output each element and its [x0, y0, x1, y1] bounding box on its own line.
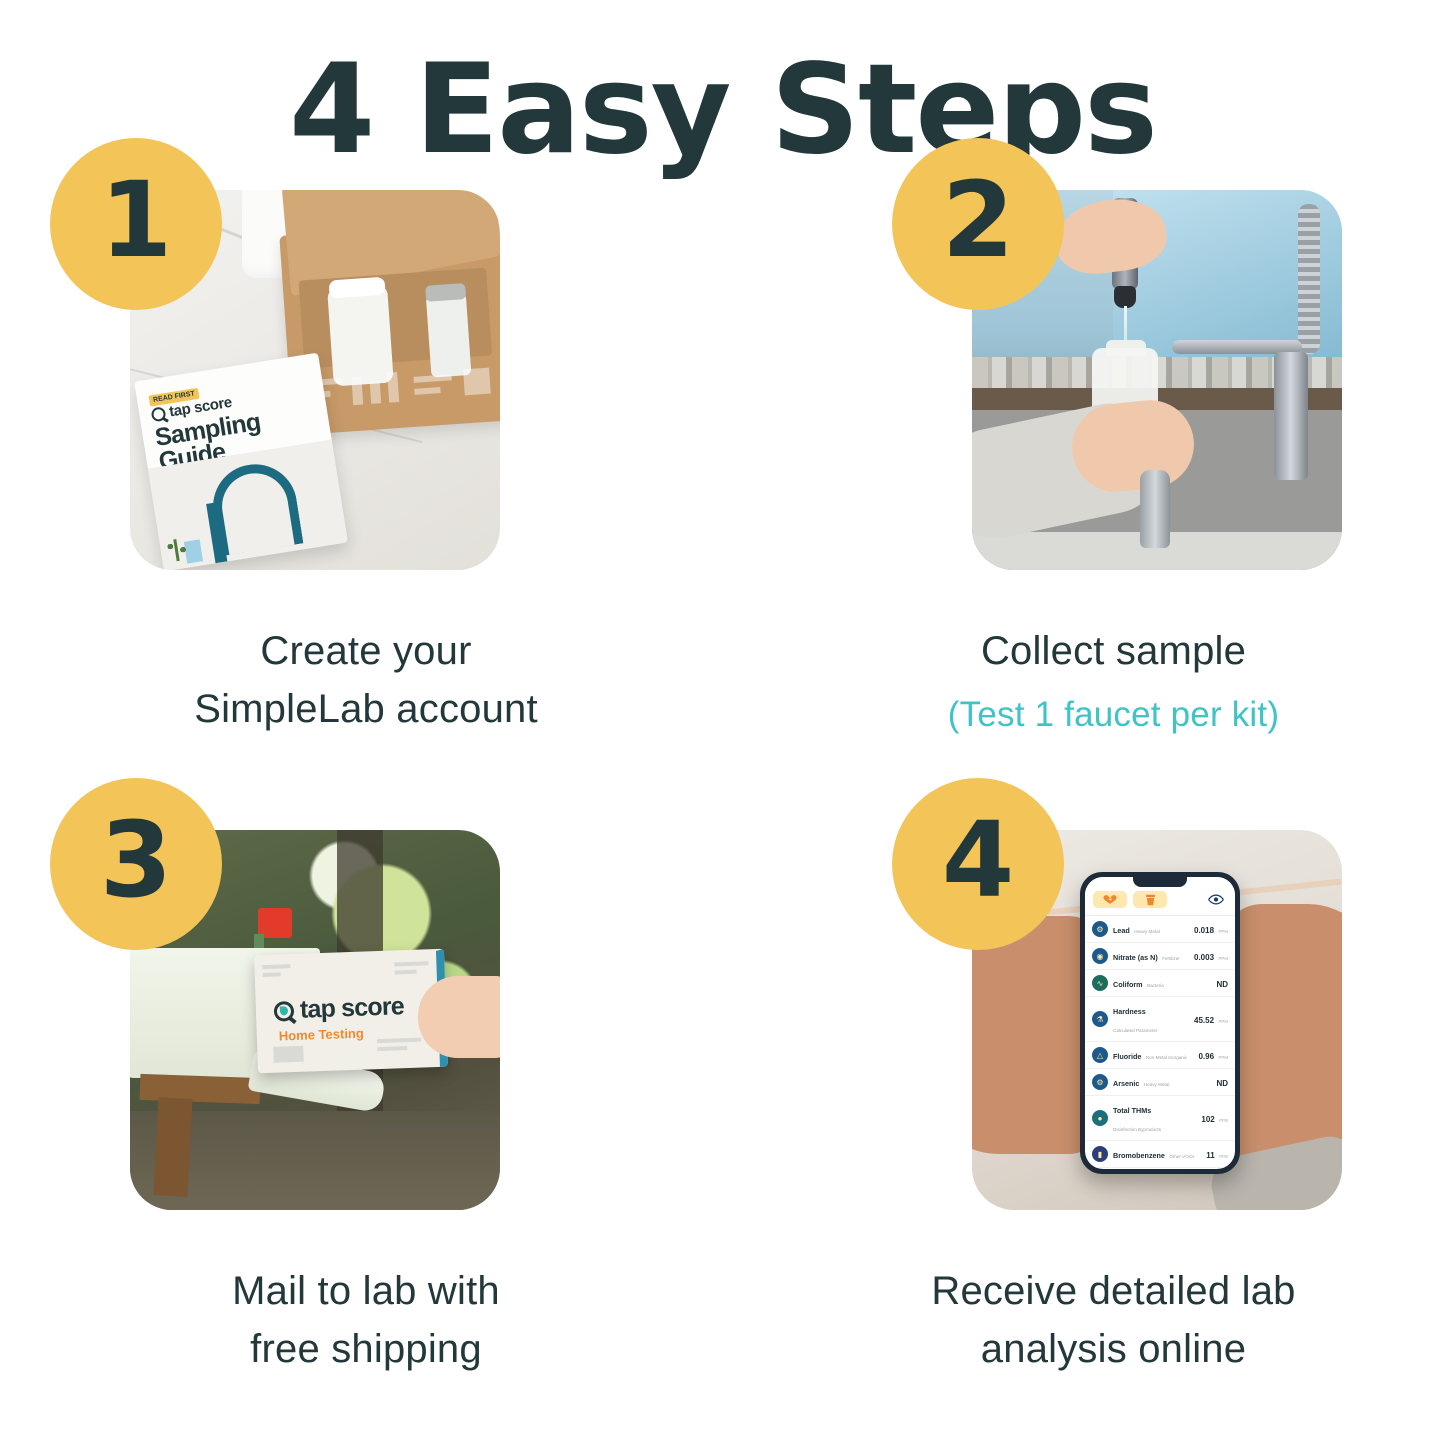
analyte-name: Coliform — [1113, 980, 1143, 989]
result-row[interactable]: ⚗ Hardness Calculated Parameter 45.52 PP… — [1085, 997, 1235, 1042]
plant-sprig-icon — [163, 537, 190, 564]
analyte-category: Disinfection Byproducts — [1113, 1127, 1161, 1132]
shipping-box-subtitle: Home Testing — [279, 1026, 364, 1044]
tap-score-wordmark: tap score — [299, 992, 404, 1025]
analyte-name: Bromobenzene — [1113, 1151, 1165, 1160]
step-2-card: 2 — [972, 190, 1342, 570]
tap-score-droplet-icon — [274, 1000, 295, 1021]
analyte-category: Bacteria — [1147, 983, 1164, 988]
analyte-name: Lead — [1113, 926, 1130, 935]
result-row[interactable]: ⚙ Lead Heavy Metal 0.018 PPM — [1085, 916, 1235, 943]
result-row[interactable]: △ Fluoride Non-Metal Inorganic 0.96 PPM — [1085, 1042, 1235, 1069]
sample-cup-icon[interactable] — [1133, 891, 1167, 908]
step-1-number-badge: 1 — [50, 138, 222, 310]
analyte-value: 11 — [1206, 1151, 1214, 1160]
analyte-icon: ▮ — [1092, 1146, 1108, 1162]
analyte-icon: ⚙ — [1092, 1074, 1108, 1090]
result-row[interactable]: ◉ Nitrate (as N) Fertilizer 0.003 PPM — [1085, 943, 1235, 970]
sample-vial-cap — [425, 283, 466, 302]
hand-holding-box — [418, 976, 500, 1058]
step-4-caption-line1: Receive detailed lab — [782, 1262, 1445, 1320]
phone-device: ⚙ Lead Heavy Metal 0.018 PPM — [1080, 872, 1240, 1174]
kit-box-insert — [298, 268, 492, 369]
page-title: 4 Easy Steps — [0, 0, 1445, 172]
steps-grid: READ FIRST tap score Sampling Guide Powe… — [0, 190, 1445, 1445]
analyte-unit: PPM — [1218, 929, 1228, 934]
step-4-caption-line2: analysis online — [782, 1320, 1445, 1378]
result-row[interactable]: ⚙ Arsenic Heavy Metal ND — [1085, 1069, 1235, 1096]
sprayer-nozzle — [1114, 286, 1136, 308]
analyte-name: Arsenic — [1113, 1079, 1139, 1088]
tap-score-droplet-icon — [150, 406, 166, 422]
step-1-caption-line1: Create your — [10, 622, 722, 680]
analyte-value: 0.003 — [1194, 953, 1214, 962]
step-3-card: tap score Home Testing 3 — [130, 830, 500, 1210]
step-2-number: 2 — [942, 168, 1014, 272]
step-2-caption: Collect sample (Test 1 faucet per kit) — [782, 622, 1445, 741]
analyte-name: Fluoride — [1113, 1052, 1141, 1061]
faucet-base — [1274, 352, 1308, 480]
analyte-unit: PPB — [1219, 1154, 1228, 1159]
analyte-category: Heavy Metal — [1134, 929, 1160, 934]
step-2-sub-caption: (Test 1 faucet per kit) — [782, 690, 1445, 741]
analyte-value: 45.52 — [1194, 1016, 1214, 1025]
analyte-category: Calculated Parameter — [1113, 1028, 1157, 1033]
analyte-category: Non-Metal Inorganic — [1146, 1055, 1187, 1060]
analyte-unit: PPB — [1219, 1118, 1228, 1123]
analyte-category: Other VOCs — [1169, 1154, 1194, 1159]
analyte-name: Hardness — [1113, 1007, 1146, 1016]
result-row[interactable]: ▮ Bromobenzene Other VOCs 11 PPB — [1085, 1141, 1235, 1168]
mailbox-post-leg — [153, 1097, 192, 1197]
analyte-value: 0.96 — [1198, 1052, 1214, 1061]
sampling-guide-booklet: READ FIRST tap score Sampling Guide Powe… — [134, 353, 348, 570]
analyte-icon: ⚗ — [1092, 1011, 1108, 1027]
analyte-value: 0.018 — [1194, 926, 1214, 935]
step-4-card: ⚙ Lead Heavy Metal 0.018 PPM — [972, 830, 1342, 1210]
step-3-caption-line1: Mail to lab with — [10, 1262, 722, 1320]
step-2: 2 Collect sample (Test 1 faucet per kit) — [722, 190, 1445, 830]
tap-score-logo: tap score — [273, 992, 404, 1026]
heart-pulse-icon[interactable] — [1093, 891, 1127, 908]
step-2-number-badge: 2 — [892, 138, 1064, 310]
analyte-unit: PPM — [1218, 1055, 1228, 1060]
analyte-unit: PPM — [1218, 1019, 1228, 1024]
analyte-value: 102 — [1201, 1115, 1214, 1124]
step-4: ⚙ Lead Heavy Metal 0.018 PPM — [722, 830, 1445, 1445]
analyte-name: Total THMs — [1113, 1106, 1151, 1115]
right-hand — [1222, 904, 1342, 1164]
phone-notch — [1133, 877, 1187, 887]
step-4-caption: Receive detailed lab analysis online — [782, 1262, 1445, 1378]
step-1-card: READ FIRST tap score Sampling Guide Powe… — [130, 190, 500, 570]
step-3-caption-line2: free shipping — [10, 1320, 722, 1378]
phone-screen: ⚙ Lead Heavy Metal 0.018 PPM — [1085, 877, 1235, 1169]
analyte-name: Nitrate (as N) — [1113, 953, 1158, 962]
analyte-unit: PPM — [1218, 956, 1228, 961]
results-list[interactable]: ⚙ Lead Heavy Metal 0.018 PPM — [1085, 915, 1235, 1168]
faucet-coil — [1298, 204, 1320, 354]
analyte-value: ND — [1216, 1079, 1228, 1088]
step-1-number: 1 — [100, 168, 172, 272]
analyte-icon: ∿ — [1092, 975, 1108, 991]
analyte-icon: ⚙ — [1092, 921, 1108, 937]
result-row[interactable]: ● Total THMs Disinfection Byproducts 102… — [1085, 1096, 1235, 1141]
analyte-icon: ● — [1092, 1110, 1108, 1126]
step-3: tap score Home Testing 3 Mail to lab wit… — [0, 830, 722, 1445]
step-3-caption: Mail to lab with free shipping — [10, 1262, 722, 1378]
analyte-icon: ◉ — [1092, 948, 1108, 964]
step-1-caption-line2: SimpleLab account — [10, 680, 722, 738]
soap-dispenser — [1140, 470, 1170, 548]
eye-icon[interactable] — [1208, 894, 1224, 906]
step-3-number: 3 — [100, 808, 172, 912]
infographic-page: 4 Easy Steps — [0, 0, 1445, 1445]
step-4-number-badge: 4 — [892, 778, 1064, 950]
step-2-caption-line1: Collect sample — [782, 622, 1445, 680]
analyte-category: Fertilizer — [1162, 956, 1180, 961]
analyte-icon: △ — [1092, 1047, 1108, 1063]
step-4-number: 4 — [942, 808, 1014, 912]
step-1-caption: Create your SimpleLab account — [10, 622, 722, 738]
step-3-number-badge: 3 — [50, 778, 222, 950]
analyte-category: Heavy Metal — [1144, 1082, 1170, 1087]
result-row[interactable]: ∿ Coliform Bacteria ND — [1085, 970, 1235, 997]
analyte-value: ND — [1216, 980, 1228, 989]
step-1: READ FIRST tap score Sampling Guide Powe… — [0, 190, 722, 830]
